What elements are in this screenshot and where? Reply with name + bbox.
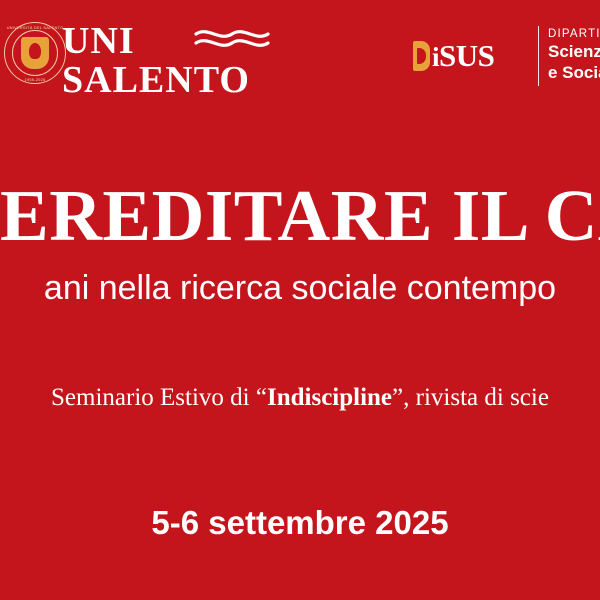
department-line3: e Sociali (548, 62, 600, 83)
waves-icon (194, 28, 274, 54)
unisalento-crest-logo: UNIVERSITÀ DEL SALENTO 1955-2025 (4, 22, 66, 84)
unisalento-wordmark: UNI SALENTO (62, 22, 292, 98)
event-dates: 5-6 settembre 2025 (0, 503, 600, 543)
seminar-prefix: Seminario Estivo di “ (51, 384, 267, 411)
disus-d-mark-icon (413, 41, 430, 71)
poster-header: UNIVERSITÀ DEL SALENTO 1955-2025 UNI SAL… (0, 0, 600, 120)
seminar-suffix: ”, rivista di scie (392, 384, 549, 411)
seminar-journal-name: Indiscipline (267, 384, 392, 411)
disus-wordmark: iSUS (432, 40, 494, 73)
crest-emblem-icon (21, 37, 49, 69)
disus-d-shape (413, 41, 430, 71)
crest-arc-top-label: UNIVERSITÀ DEL SALENTO (4, 25, 66, 30)
department-line1: DIPARTIMENTO (548, 27, 600, 41)
unisalento-line2: SALENTO (62, 60, 292, 100)
disus-lower-i: i (432, 42, 439, 72)
disus-upper-sus: SUS (439, 38, 494, 73)
department-line2: Scienze Umane (548, 41, 600, 62)
seminar-line: Seminario Estivo di “Indiscipline”, rivi… (0, 382, 600, 414)
disus-logo: iSUS (413, 38, 494, 74)
poster-subtitle: ani nella ricerca sociale contempo (0, 268, 600, 308)
poster-title: EREDITARE IL CAOS (0, 178, 600, 254)
department-name-block: DIPARTIMENTO Scienze Umane e Sociali (548, 27, 600, 83)
poster-canvas: UNIVERSITÀ DEL SALENTO 1955-2025 UNI SAL… (0, 0, 600, 600)
disus-divider (538, 26, 539, 86)
crest-arc-bottom-label: 1955-2025 (4, 77, 66, 82)
